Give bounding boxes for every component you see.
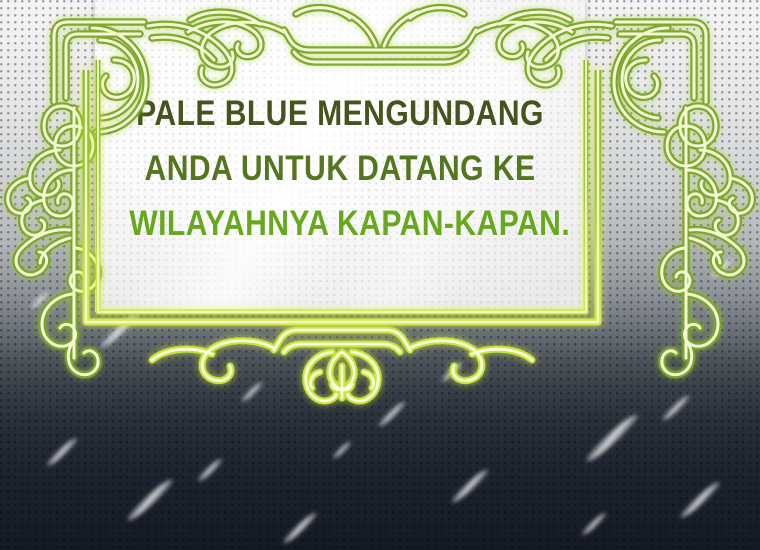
message-line-3: WILAYAHNYA KAPAN-KAPAN. (129, 206, 550, 241)
message-line-2: ANDA UNTUK DATANG KE (129, 151, 550, 186)
invitation-message: PALE BLUE MENGUNDANG ANDA UNTUK DATANG K… (95, 96, 585, 241)
message-line-1: PALE BLUE MENGUNDANG (129, 96, 550, 131)
invitation-card: PALE BLUE MENGUNDANG ANDA UNTUK DATANG K… (0, 0, 760, 550)
